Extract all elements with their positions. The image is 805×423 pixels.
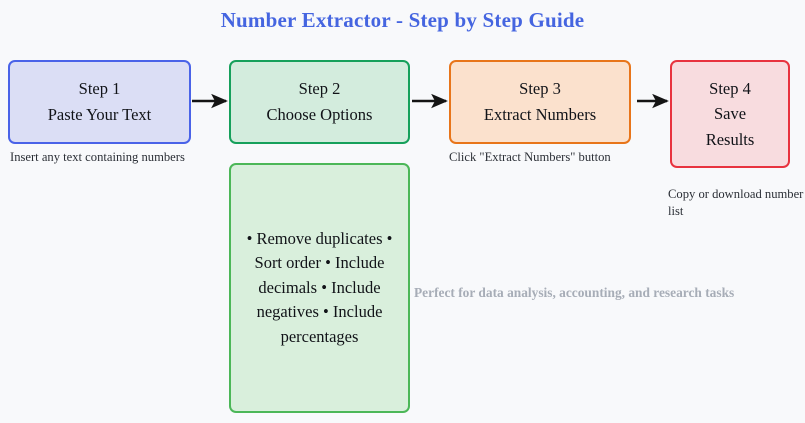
step-box-step4[interactable]: Step 4 Save Results (670, 60, 790, 168)
footer-note: Perfect for data analysis, accounting, a… (414, 285, 804, 301)
option-item-remove-duplicates: • Remove duplicates (247, 229, 383, 248)
step-box-step3[interactable]: Step 3 Extract Numbers (449, 60, 631, 144)
page-title: Number Extractor - Step by Step Guide (0, 8, 805, 33)
step4-line-1: Step 4 (709, 76, 751, 102)
step1-line-1: Step 1 (79, 76, 121, 102)
step-box-step1[interactable]: Step 1 Paste Your Text (8, 60, 191, 144)
step3-line-1: Step 3 (519, 76, 561, 102)
step4-line-3: Results (706, 127, 755, 153)
step1-line-2: Paste Your Text (48, 102, 152, 128)
diagram-canvas: Number Extractor - Step by Step Guide St… (0, 0, 805, 423)
step3-caption: Click "Extract Numbers" button (449, 149, 639, 166)
options-list: • Remove duplicates • Sort order • Inclu… (243, 227, 396, 349)
step3-line-2: Extract Numbers (484, 102, 596, 128)
step2-line-1: Step 2 (299, 76, 341, 102)
step4-line-2: Save (714, 101, 746, 127)
step-box-step2[interactable]: Step 2 Choose Options (229, 60, 410, 144)
step4-caption: Copy or download number list (668, 186, 805, 219)
step2-line-2: Choose Options (267, 102, 373, 128)
options-box[interactable]: • Remove duplicates • Sort order • Inclu… (229, 163, 410, 413)
step1-caption: Insert any text containing numbers (10, 149, 195, 166)
